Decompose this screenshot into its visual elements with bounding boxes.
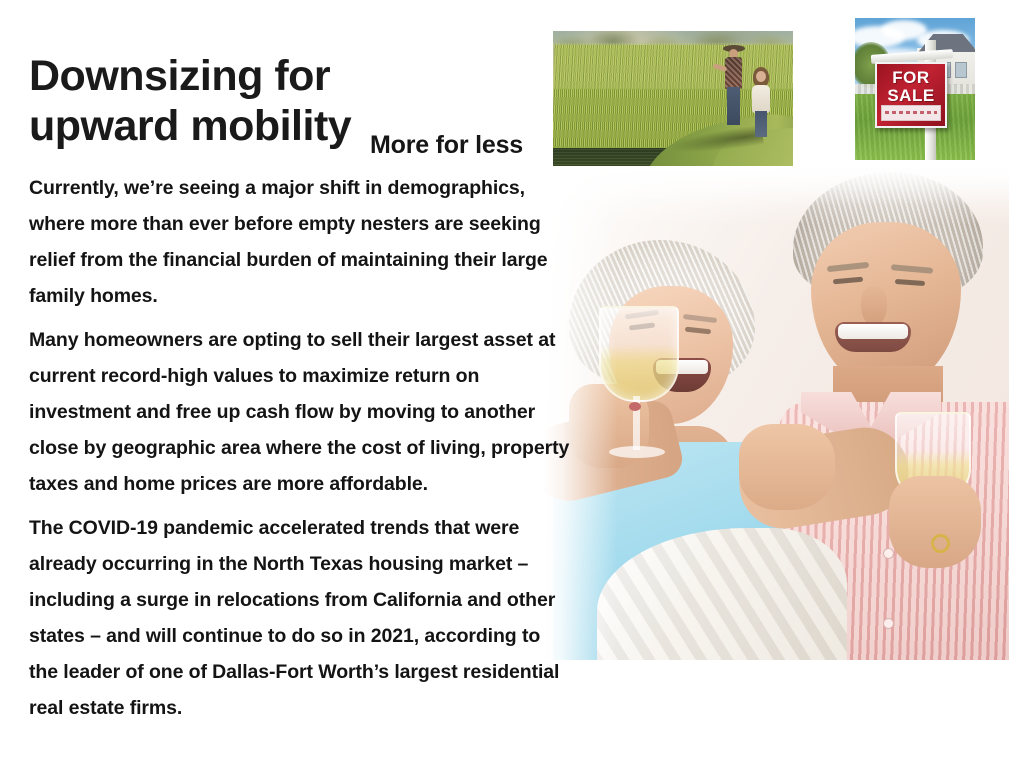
man-plaid-shirt: [725, 57, 742, 89]
senior-couple-toasting-photo: [543, 166, 1009, 660]
body-paragraph-1: Currently, we’re seeing a major shift in…: [29, 170, 574, 314]
shirt-button: [883, 548, 894, 559]
wine-glass-bowl: [599, 306, 679, 402]
shirt-button: [883, 618, 894, 629]
man-teeth: [838, 324, 908, 339]
fingernail: [629, 402, 641, 411]
wedding-ring: [931, 534, 950, 553]
body-paragraph-2: Many homeowners are opting to sell their…: [29, 322, 574, 502]
page-title-line-1: Downsizing for: [29, 51, 549, 101]
man-smiling-mouth: [835, 322, 911, 352]
girl-top: [752, 85, 770, 113]
for-sale-text-line-1: FOR: [877, 69, 945, 86]
slide-canvas: Downsizing for upward mobility More for …: [0, 0, 1024, 768]
man-nose: [861, 286, 887, 326]
man-figure: [721, 45, 747, 127]
page-subtitle: More for less: [370, 131, 523, 160]
house-window: [955, 62, 967, 78]
girl-head: [756, 71, 766, 82]
man-jeans: [727, 87, 740, 125]
agency-name-strip: [881, 105, 941, 121]
man-hand-holding-glass: [889, 476, 981, 568]
body-paragraph-3: The COVID-19 pandemic accelerated trends…: [29, 510, 574, 726]
wine-glass-left: [599, 306, 675, 496]
for-sale-sign-photo: FOR SALE: [855, 18, 975, 160]
girl-figure: [749, 67, 773, 137]
man-hand-on-shoulder: [739, 424, 835, 510]
for-sale-text-line-2: SALE: [877, 87, 945, 104]
for-sale-board: FOR SALE: [875, 62, 947, 128]
girl-jeans: [755, 111, 767, 137]
wine-glass-foot: [609, 446, 665, 458]
body-text-column: Currently, we’re seeing a major shift in…: [29, 170, 574, 734]
